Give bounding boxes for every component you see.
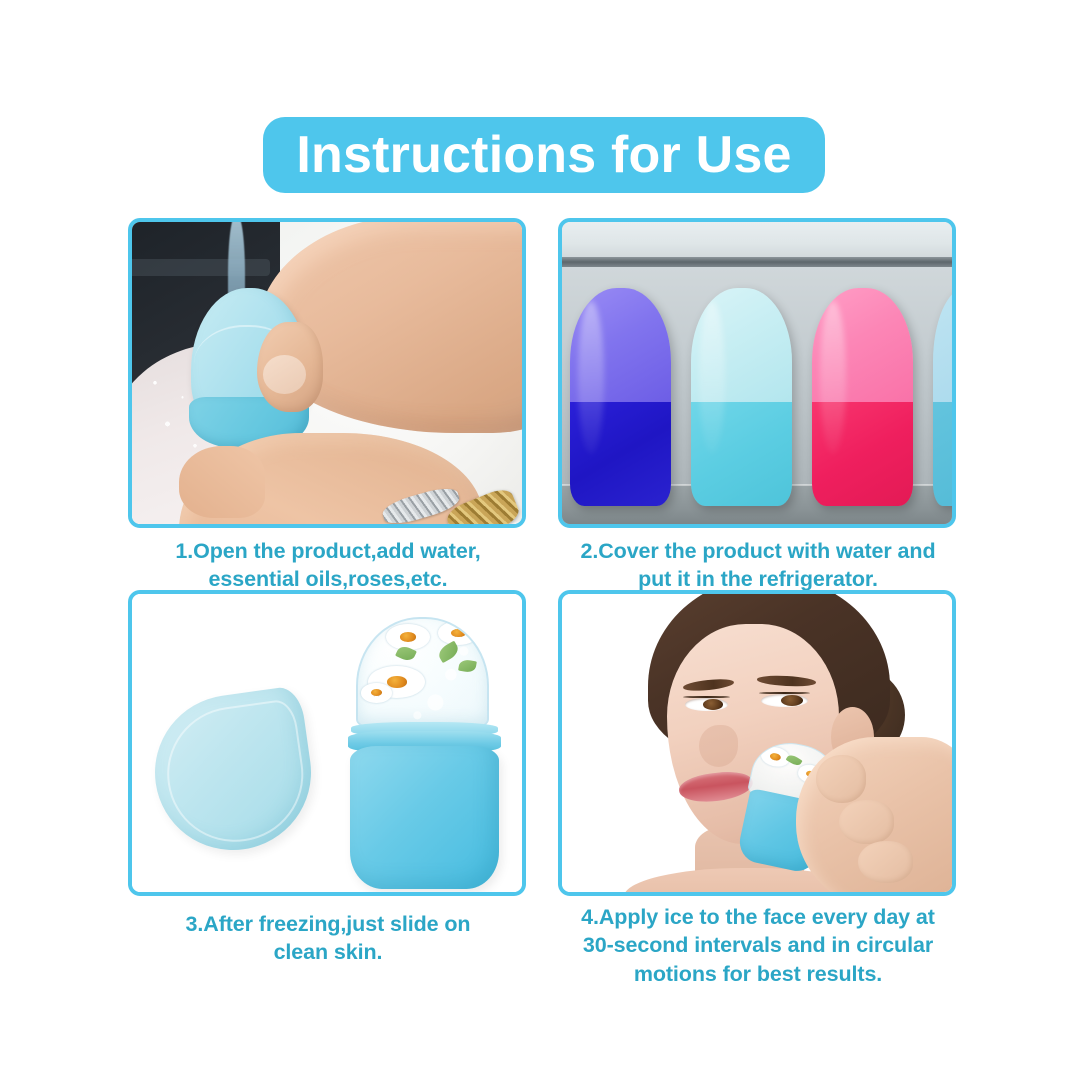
shelf-edge bbox=[562, 257, 952, 268]
step-1-photo bbox=[128, 218, 526, 528]
step-3-caption-line-2: clean skin. bbox=[118, 938, 538, 966]
daisy-flower bbox=[438, 621, 479, 645]
silicone-holder bbox=[350, 746, 498, 889]
step-2-photo bbox=[558, 218, 956, 528]
step-3-caption-line-1: 3.After freezing,just slide on bbox=[118, 910, 538, 938]
left-eyelash bbox=[683, 696, 730, 698]
step-4-photo bbox=[558, 590, 956, 896]
partial-blue-capsule-top bbox=[933, 288, 953, 401]
step-4-caption-line-3: motions for best results. bbox=[548, 960, 968, 988]
step-2-caption: 2.Cover the product with water and put i… bbox=[548, 537, 968, 594]
daisy-flower bbox=[386, 624, 430, 650]
partial-blue-capsule bbox=[933, 288, 953, 505]
step-2-caption-line-1: 2.Cover the product with water and bbox=[548, 537, 968, 565]
scene-capsules-in-refrigerator bbox=[562, 222, 952, 524]
scene-frozen-flower-ice-and-cap bbox=[132, 594, 522, 892]
purple-capsule-highlight bbox=[578, 301, 604, 453]
scene-woman-applying-ice-roller bbox=[562, 594, 952, 892]
daisy-center bbox=[400, 632, 416, 641]
daisy-center bbox=[451, 629, 466, 637]
step-1-caption-line-1: 1.Open the product,add water, bbox=[118, 537, 538, 565]
right-eye bbox=[761, 694, 808, 707]
right-eyelash bbox=[759, 692, 810, 694]
step-4-caption: 4.Apply ice to the face every day at 30-… bbox=[548, 903, 968, 988]
step-1 bbox=[128, 218, 526, 528]
daisy-flower bbox=[361, 683, 392, 702]
step-4-caption-line-1: 4.Apply ice to the face every day at bbox=[548, 903, 968, 931]
partial-blue-capsule-bottom bbox=[933, 402, 953, 506]
lower-hand-finger bbox=[179, 446, 265, 518]
scene-washing-roller-under-tap bbox=[132, 222, 522, 524]
step-3-photo bbox=[128, 590, 526, 896]
finger bbox=[858, 841, 913, 883]
green-leaf bbox=[786, 752, 803, 767]
steps-grid: 1.Open the product,add water, essential … bbox=[0, 0, 1080, 1080]
step-1-caption: 1.Open the product,add water, essential … bbox=[118, 537, 538, 594]
thumb-nail bbox=[263, 355, 306, 394]
left-iris bbox=[703, 699, 724, 710]
nose bbox=[699, 725, 738, 767]
step-3 bbox=[128, 590, 526, 896]
finger bbox=[839, 800, 894, 845]
step-4-caption-line-2: 30-second intervals and in circular bbox=[548, 931, 968, 959]
right-iris bbox=[781, 695, 803, 706]
frozen-ice-dome bbox=[356, 617, 489, 728]
light-blue-capsule-highlight bbox=[699, 301, 725, 453]
daisy-center bbox=[387, 676, 407, 688]
instructions-page: Instructions for Use bbox=[0, 0, 1080, 1080]
step-3-caption: 3.After freezing,just slide on clean ski… bbox=[118, 910, 538, 967]
pink-capsule-highlight bbox=[820, 301, 846, 453]
step-2 bbox=[558, 218, 956, 528]
purple-capsule bbox=[570, 288, 671, 505]
finger bbox=[816, 755, 867, 803]
refrigerator-upper-shelf bbox=[562, 222, 952, 261]
step-4 bbox=[558, 590, 956, 896]
pink-capsule bbox=[812, 288, 913, 505]
light-blue-capsule bbox=[691, 288, 792, 505]
